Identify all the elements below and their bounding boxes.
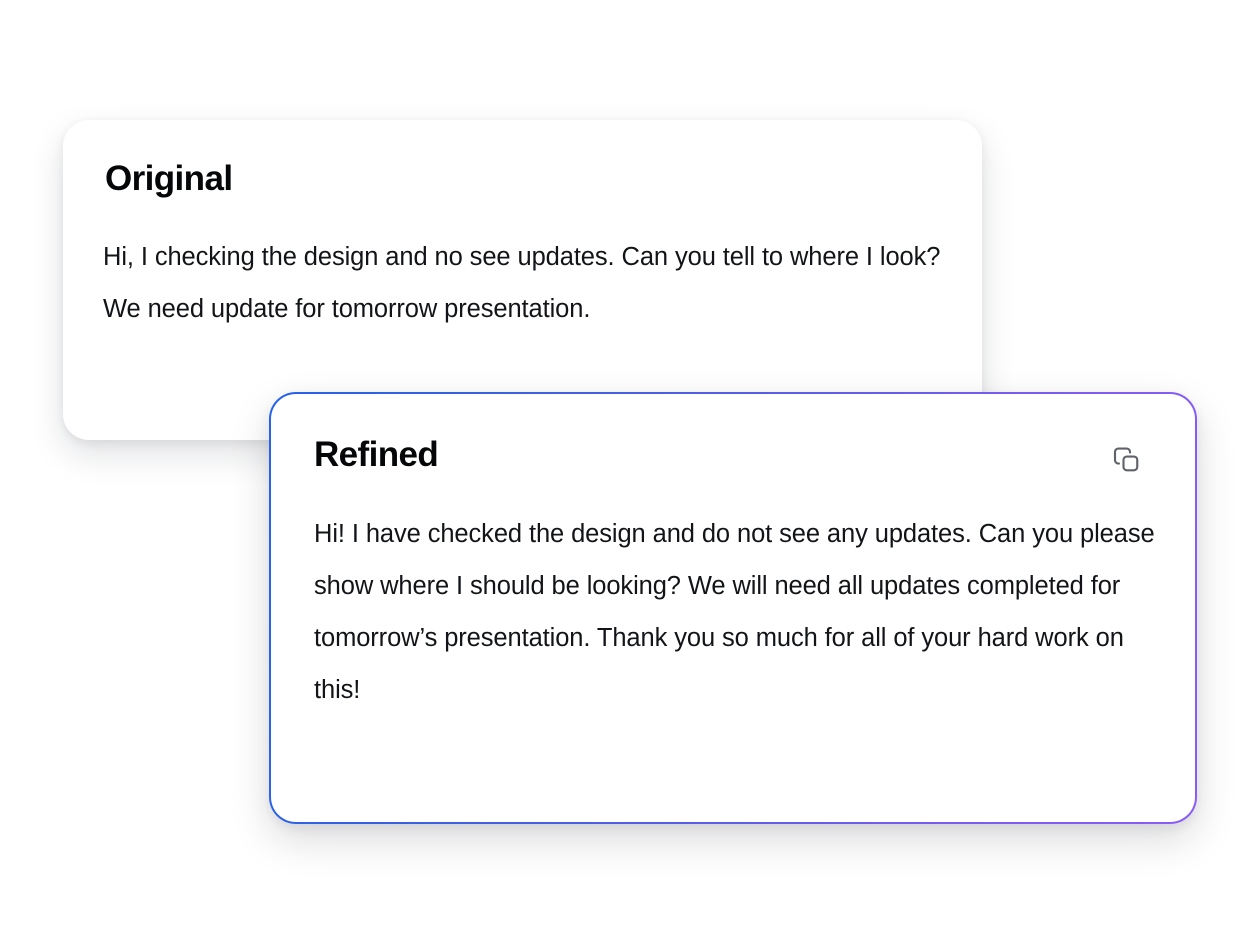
refined-card: Refined Copy Hi! I have checked the desi… <box>271 394 1195 822</box>
original-card-body: Hi, I checking the design and no see upd… <box>103 231 963 335</box>
refined-card-body: Hi! I have checked the design and do not… <box>314 508 1174 716</box>
copy-icon <box>1112 445 1142 475</box>
refined-card-title: Refined <box>314 436 438 475</box>
comparison-cards-stage: Original Hi, I checking the design and n… <box>0 0 1259 945</box>
refined-card-border: Refined Copy Hi! I have checked the desi… <box>269 392 1197 824</box>
refined-card-header: Refined Copy <box>314 436 1151 480</box>
copy-button[interactable]: Copy <box>1107 440 1147 480</box>
original-card-title: Original <box>105 160 940 199</box>
